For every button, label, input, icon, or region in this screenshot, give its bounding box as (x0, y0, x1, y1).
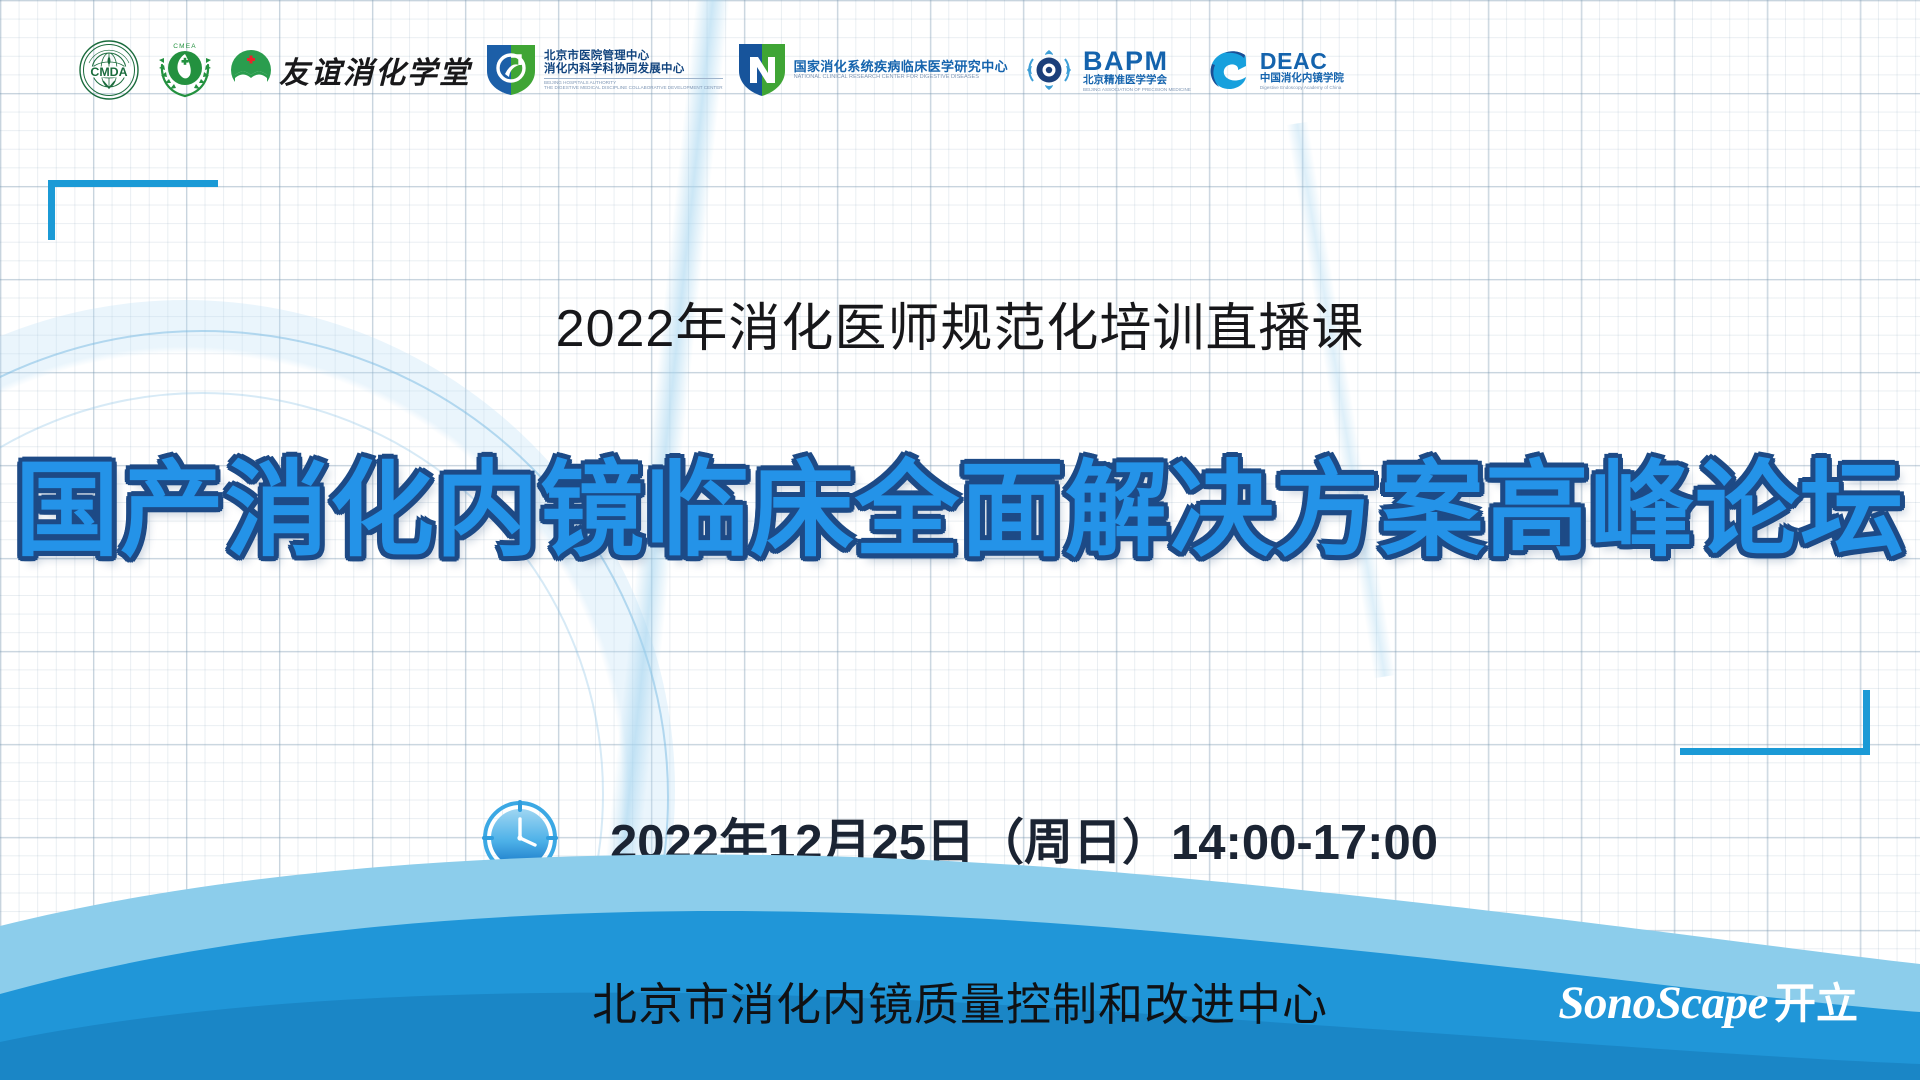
logo-youyi: 友谊消化学堂 (230, 37, 471, 103)
event-subtitle: 2022年消化医师规范化培训直播课 (0, 286, 1920, 361)
logo-bapm-en: BEIJING ASSOCIATION OF PRECISION MEDICIN… (1083, 87, 1191, 92)
clock-icon (482, 800, 558, 876)
logo-beijing-hospital-admin: 北京市医院管理中心 消化内科学科协同发展中心 BEIJING HOSPITALS… (485, 37, 723, 103)
logo-line-cn: 国家消化系统疾病临床医学研究中心 (794, 60, 1008, 75)
cmea-wreath-icon: CMEA (154, 39, 216, 101)
logo-national-clinical-research-text: 国家消化系统疾病临床医学研究中心 NATIONAL CLINICAL RESEA… (794, 60, 1008, 81)
event-datetime-row: 2022年12月25日（周日）14:00-17:00 (0, 800, 1920, 876)
logo-line-cn2: 消化内科学科协同发展中心 (544, 63, 723, 76)
deac-swirl-icon (1205, 44, 1253, 96)
logo-deac: DEAC 中国消化内镜学院 Digestive Endoscopy Academ… (1205, 37, 1344, 103)
headline-container: 国产消化内镜临床全面解决方案高峰论坛 (0, 455, 1920, 567)
corner-bracket-top-left (48, 180, 218, 240)
logo-deac-text: DEAC 中国消化内镜学院 Digestive Endoscopy Academ… (1260, 50, 1344, 90)
youyi-cross-icon (230, 49, 272, 91)
logo-cmea: CMEA (154, 37, 216, 103)
logo-deac-en: Digestive Endoscopy Academy of China (1260, 85, 1344, 90)
sponsor-logo-strip: CMDA (0, 30, 1920, 110)
logo-bapm-text: BAPM 北京精准医学学会 BEIJING ASSOCIATION OF PRE… (1083, 48, 1191, 92)
logo-acronym-deac: DEAC (1260, 50, 1344, 73)
brand-name: SonoScape (1558, 976, 1768, 1030)
cmda-seal-icon: CMDA (78, 39, 140, 101)
event-headline: 国产消化内镜临床全面解决方案高峰论坛 (15, 455, 1905, 567)
logo-beijing-hospital-admin-text: 北京市医院管理中心 消化内科学科协同发展中心 BEIJING HOSPITALS… (544, 50, 723, 90)
logo-acronym-bapm: BAPM (1083, 48, 1191, 75)
logo-line-cn1: 北京市医院管理中心 (544, 50, 723, 63)
brand-name-cn: 开立 (1774, 970, 1858, 1031)
shield-blue-green-icon (485, 41, 537, 99)
brand-sonoscape: SonoScape 开立 (1558, 970, 1858, 1031)
bapm-target-icon (1022, 45, 1076, 95)
poster-canvas: CMDA (0, 0, 1920, 1080)
event-datetime-text: 2022年12月25日（周日）14:00-17:00 (610, 803, 1438, 874)
logo-youyi-script: 友谊消化学堂 (279, 48, 471, 92)
logo-national-clinical-research: 国家消化系统疾病临床医学研究中心 NATIONAL CLINICAL RESEA… (737, 37, 1008, 103)
corner-bracket-bottom-right (1680, 690, 1870, 755)
svg-text:CMDA: CMDA (90, 65, 127, 79)
logo-deac-cn: 中国消化内镜学院 (1260, 73, 1344, 85)
logo-line-en: NATIONAL CLINICAL RESEARCH CENTER FOR DI… (794, 74, 1008, 80)
logo-bapm: BAPM 北京精准医学学会 BEIJING ASSOCIATION OF PRE… (1022, 37, 1191, 103)
logo-cmda: CMDA (78, 37, 140, 103)
logo-line-en2: THE DIGESTIVE MEDICAL DISCIPLINE COLLABO… (544, 85, 723, 90)
logo-bapm-cn: 北京精准医学学会 (1083, 75, 1191, 87)
shield-n-icon (737, 41, 787, 99)
svg-text:CMEA: CMEA (173, 43, 197, 50)
footer-row: 北京市消化内镜质量控制和改进中心 SonoScape 开立 (0, 964, 1920, 1036)
